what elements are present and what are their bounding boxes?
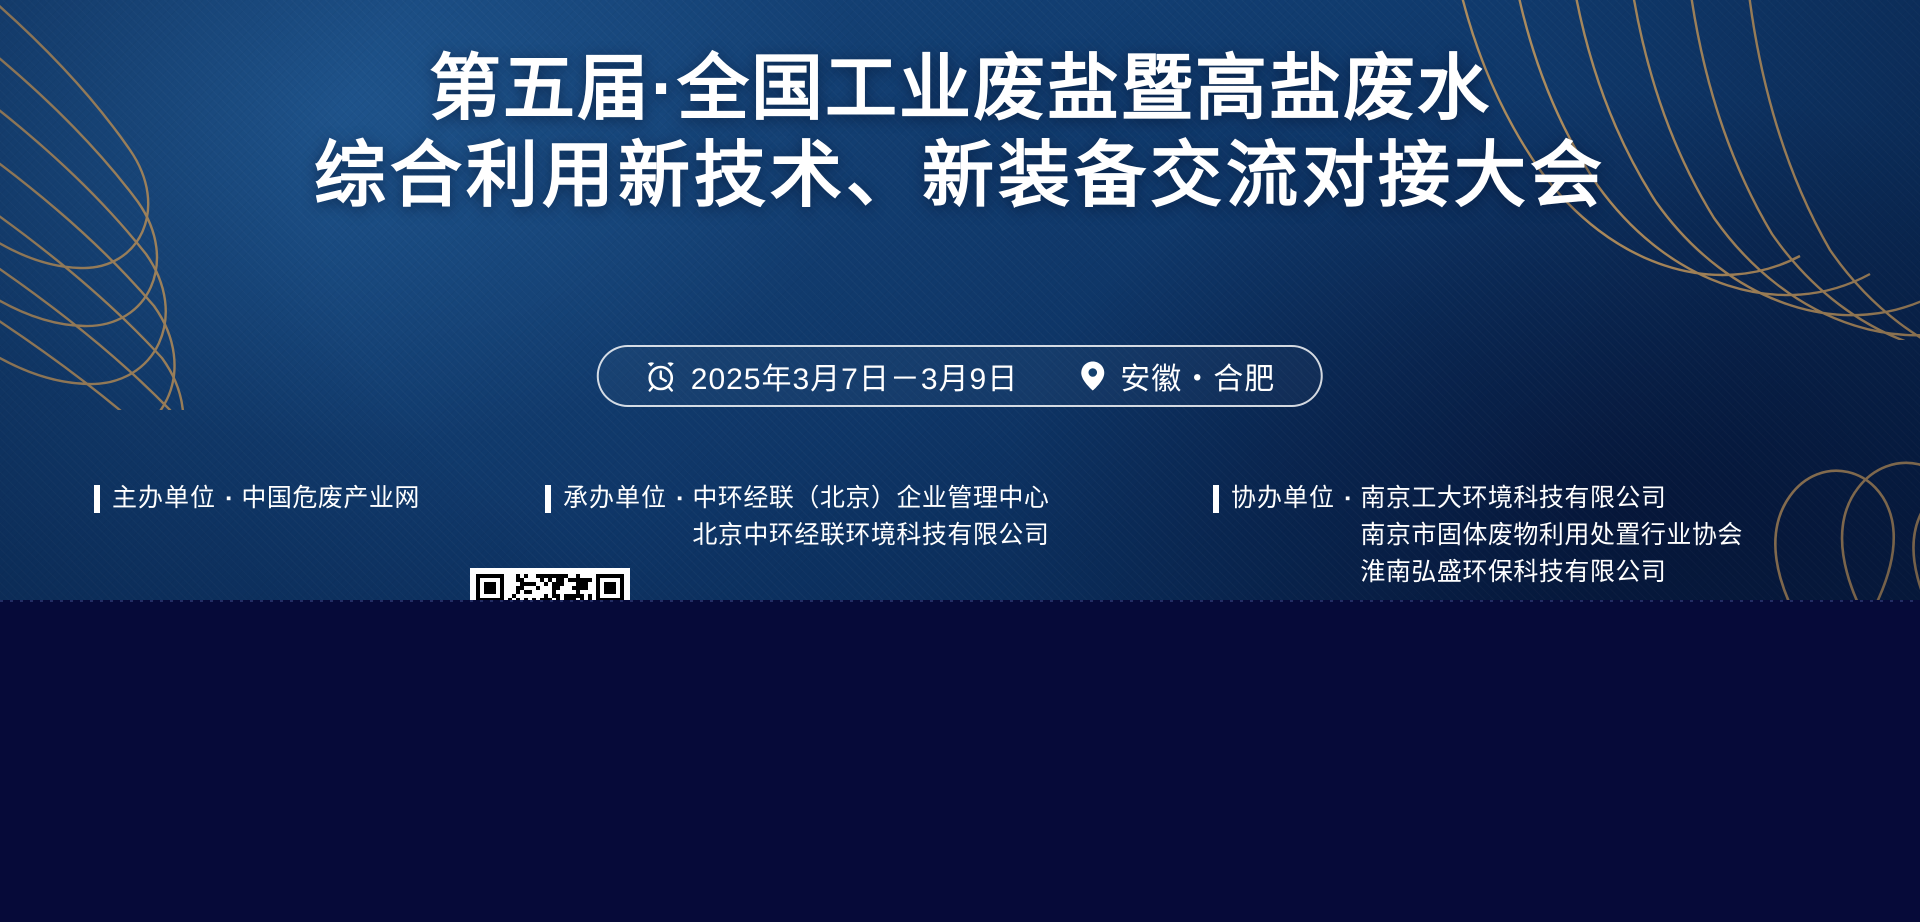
organizer-names: 南京工大环境科技有限公司 南京市固体废物利用处置行业协会 淮南弘盛环保科技有限公… — [1360, 480, 1743, 591]
location-pin-icon — [1080, 360, 1106, 392]
organizer-names: 中环经联（北京）企业管理中心 北京中环经联环境科技有限公司 — [692, 480, 1049, 554]
organizer-name: 中国危废产业网 — [241, 480, 420, 517]
organizer-name: 中环经联（北京）企业管理中心 — [692, 480, 1049, 517]
organizer-name: 南京市固体废物利用处置行业协会 — [1360, 517, 1743, 554]
title-line-secondary: 综合利用新技术、新装备交流对接大会 — [0, 139, 1920, 214]
conference-poster: 第五届·全国工业废盐暨高盐废水 综合利用新技术、新装备交流对接大会 2025年3… — [0, 0, 1920, 922]
qr-code-canvas — [476, 574, 624, 600]
event-location-group: 安徽・合肥 — [1080, 354, 1275, 398]
organizer-accent-bar — [1213, 485, 1219, 513]
event-date-text: 2025年3月7日－3月9日 — [691, 354, 1018, 398]
organizer-accent-bar — [545, 485, 551, 513]
organizer-separator-icon: ▪ — [226, 480, 231, 517]
organizer-column-organizer: 承办单位 ▪ 中环经联（北京）企业管理中心 北京中环经联环境科技有限公司 — [545, 480, 1049, 554]
organizer-names: 中国危废产业网 — [241, 480, 420, 517]
event-info-pill: 2025年3月7日－3月9日 安徽・合肥 — [597, 345, 1323, 407]
poster-banner: 第五届·全国工业废盐暨高盐废水 综合利用新技术、新装备交流对接大会 2025年3… — [0, 0, 1920, 600]
alarm-clock-icon — [645, 360, 677, 392]
organizer-column-host: 主办单位 ▪ 中国危废产业网 — [94, 480, 420, 517]
organizer-list: 主办单位 ▪ 中国危废产业网 承办单位 ▪ 中环经联（北京）企业管理中心 北京中… — [0, 480, 1920, 600]
qr-code[interactable] — [470, 568, 630, 600]
organizer-role-label: 协办单位 — [1231, 480, 1335, 517]
organizer-separator-icon: ▪ — [677, 480, 682, 517]
bottom-panel — [0, 600, 1920, 922]
organizer-separator-icon: ▪ — [1345, 480, 1350, 517]
title-line-primary: 第五届·全国工业废盐暨高盐废水 — [0, 52, 1920, 127]
organizer-column-coorganizer: 协办单位 ▪ 南京工大环境科技有限公司 南京市固体废物利用处置行业协会 淮南弘盛… — [1213, 480, 1743, 591]
bottom-panel-top-edge — [0, 600, 1920, 602]
organizer-accent-bar — [94, 485, 100, 513]
event-date-group: 2025年3月7日－3月9日 — [645, 354, 1018, 398]
event-location-text: 安徽・合肥 — [1120, 354, 1275, 398]
poster-title: 第五届·全国工业废盐暨高盐废水 综合利用新技术、新装备交流对接大会 — [0, 52, 1920, 214]
organizer-name: 淮南弘盛环保科技有限公司 — [1360, 554, 1743, 591]
organizer-name: 南京工大环境科技有限公司 — [1360, 480, 1743, 517]
organizer-role-label: 主办单位 — [112, 480, 216, 517]
organizer-name: 北京中环经联环境科技有限公司 — [692, 517, 1049, 554]
organizer-role-label: 承办单位 — [563, 480, 667, 517]
